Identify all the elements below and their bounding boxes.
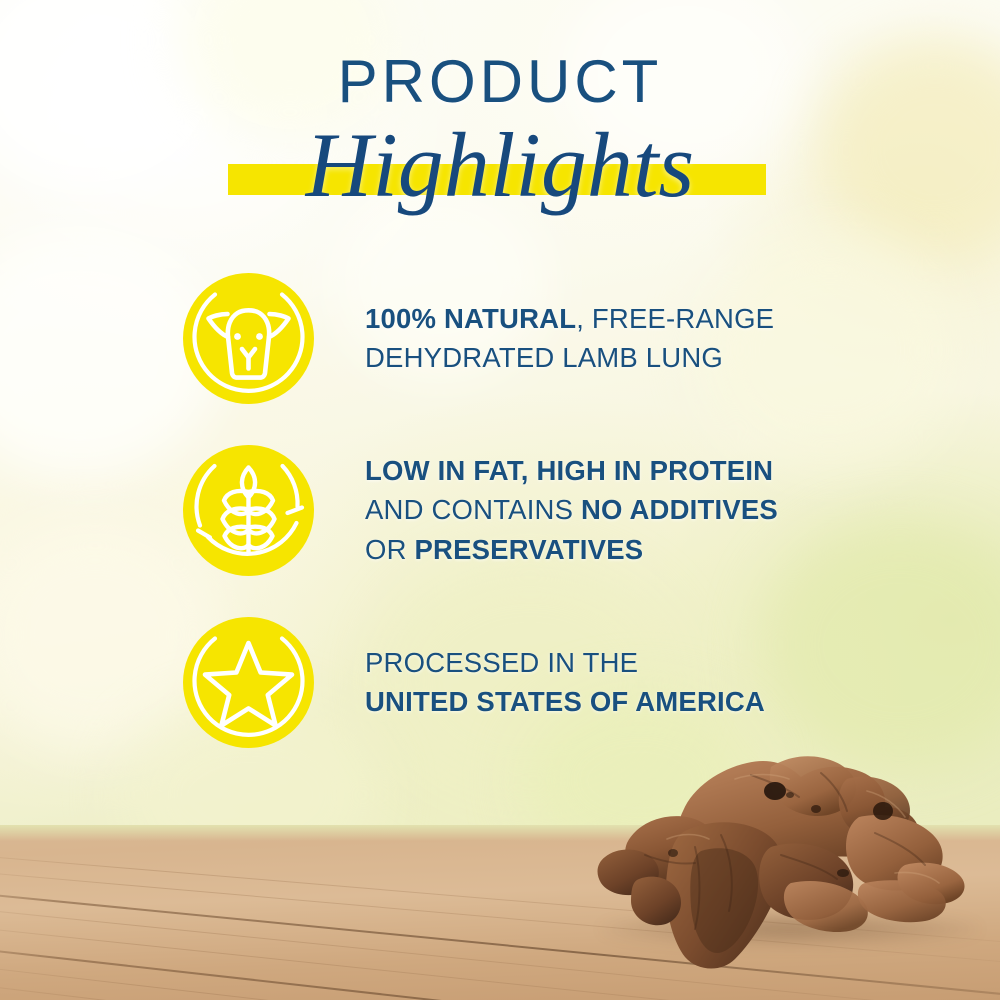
product-highlights-infographic: PRODUCT Highlights — [0, 0, 1000, 1000]
highlights-list: 100% NATURAL, FREE-RANGE DEHYDRATED LAMB… — [183, 252, 883, 768]
wheat-stalk-icon — [183, 445, 314, 576]
highlight-row: LOW IN FAT, HIGH IN PROTEIN AND CONTAINS… — [183, 424, 883, 596]
highlight-row: 100% NATURAL, FREE-RANGE DEHYDRATED LAMB… — [183, 252, 883, 424]
product-image — [575, 715, 995, 975]
page-title-line2: Highlights — [0, 116, 1000, 215]
page-title-block: PRODUCT Highlights — [0, 52, 1000, 208]
wood-plank-seam — [0, 993, 1000, 1000]
highlight-text: PROCESSED IN THE UNITED STATES OF AMERIC… — [365, 643, 765, 721]
star-badge-icon — [183, 617, 314, 748]
page-title-line2-row: Highlights — [0, 116, 1000, 208]
highlight-text: LOW IN FAT, HIGH IN PROTEIN AND CONTAINS… — [365, 451, 778, 568]
page-title-line1: PRODUCT — [0, 52, 1000, 112]
lamb-head-icon — [183, 273, 314, 404]
highlight-text: 100% NATURAL, FREE-RANGE DEHYDRATED LAMB… — [365, 299, 774, 377]
